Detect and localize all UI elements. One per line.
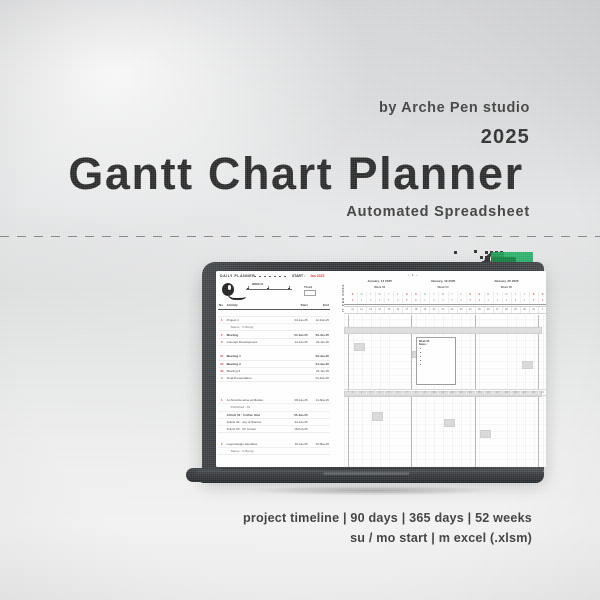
- timed-input[interactable]: [304, 290, 316, 296]
- cell-end: 12-Feb-25: [309, 316, 330, 323]
- spreadsheet: DAILY PLANNER START : Jan 2025 WEEK 01: [216, 271, 546, 467]
- cell-start: [287, 390, 308, 397]
- cell-activity: Article 03 : On Colour: [226, 426, 288, 433]
- cell-end: 24-Jan-25: [309, 367, 330, 374]
- divider-dashed: [0, 236, 600, 237]
- cell-end: [309, 404, 330, 411]
- gantt-pane: ‹ 1 › January, 12 2025Week 03January, 19…: [344, 271, 546, 467]
- cell-start: -: [287, 309, 308, 316]
- gantt-month-label: January, 12 2025: [348, 279, 411, 283]
- table-row: [218, 433, 330, 441]
- cell-start: [287, 375, 308, 382]
- cell-no: 1: [218, 316, 226, 323]
- gantt-month-label: January, 19 2025: [411, 279, 474, 283]
- gantt-dayindex-row: 1234567891011121314151617181920212223242…: [344, 389, 546, 396]
- cell-no: 3: [218, 338, 226, 345]
- table-row[interactable]: Article 01 : Coffee time05-Jan-25✓: [218, 411, 330, 418]
- start-date-value[interactable]: Jan 2025: [310, 274, 324, 278]
- cell-activity: [226, 390, 288, 397]
- table-row: [218, 390, 330, 397]
- footer-line-1: project timeline | 90 days | 365 days | …: [243, 511, 532, 525]
- timed-label: Timed: [304, 285, 312, 289]
- cell-activity: Article 02 : Joy of Silence: [226, 418, 288, 425]
- cell-start: [287, 353, 308, 360]
- poster-canvas: by Arche Pen studio 2025 Gantt Chart Pla…: [0, 0, 600, 600]
- laptop-base: [196, 470, 544, 483]
- page-title: Gantt Chart Planner: [0, 148, 600, 200]
- table-row[interactable]: Article 03 : On Colour18-Feb-25: [218, 426, 330, 433]
- gantt-week-label: Week 03: [348, 285, 411, 289]
- gantt-daynum-cell: 1: [538, 298, 546, 303]
- cell-end: [309, 418, 330, 425]
- cell-activity: Meeting 3: [226, 367, 288, 374]
- laptop-lid: DAILY PLANNER START : Jan 2025 WEEK 01: [202, 262, 544, 476]
- sheet-title: DAILY PLANNER: [220, 274, 255, 278]
- gantt-pager[interactable]: ‹ 1 ›: [408, 273, 418, 277]
- cell-start: [287, 367, 308, 374]
- cell-no: 03: [218, 367, 226, 374]
- cell-no: 4: [218, 375, 226, 382]
- cell-activity: Published : 01: [226, 404, 288, 411]
- cell-start: 05-Jan-25: [287, 411, 308, 418]
- cell-end: [309, 426, 330, 433]
- table-row[interactable]: 02Meeting 204-Jan-25✓: [218, 360, 330, 367]
- gantt-bar[interactable]: [372, 412, 383, 421]
- cell-no: [218, 411, 226, 418]
- cell-activity: Status : In Being: [226, 324, 288, 331]
- gantt-date-row: 1112131415161718192021222324252627282930…: [344, 306, 546, 314]
- cell-no: [218, 324, 226, 331]
- cell-no: [218, 404, 226, 411]
- gantt-week-label: Week 05: [475, 285, 538, 289]
- cell-end: 04-Jan-25✓: [309, 360, 330, 367]
- table-row[interactable]: Status : In Being: [218, 324, 330, 331]
- cell-no: [218, 447, 226, 454]
- start-label: START :: [292, 274, 305, 278]
- mini-timeline-label: WEEK 01: [252, 283, 263, 286]
- table-row[interactable]: 01Meeting 109-Jan-25✓: [218, 353, 330, 360]
- cell-end: [309, 346, 330, 354]
- cell-start: [287, 447, 308, 454]
- cell-activity: Concept Development: [226, 338, 288, 345]
- cell-no: [218, 309, 226, 316]
- cell-start: 04-Jan-25: [287, 316, 308, 323]
- gantt-month-label: January, 26 2025: [475, 279, 538, 283]
- table-row[interactable]: 03Meeting 324-Jan-25: [218, 367, 330, 374]
- table-row[interactable]: 1A chronicle arise at Modus08-Jan-2514-M…: [218, 397, 330, 404]
- cell-no: [218, 390, 226, 397]
- cell-start: 19-Jan-25: [287, 441, 308, 448]
- cell-start: [287, 346, 308, 354]
- table-row: [218, 346, 330, 354]
- footer-line-2: su / mo start | m excel (.xlsm): [350, 531, 532, 545]
- table-row[interactable]: 3Concept Development14-Jan-2524-Jan-25: [218, 338, 330, 345]
- cell-end: 14-Mar-25: [309, 397, 330, 404]
- cell-activity: Meeting: [226, 331, 288, 338]
- cell-end: 09-Jan-25✓: [309, 331, 330, 338]
- cell-start: 14-Jan-25: [287, 338, 308, 345]
- gantt-daynumber-row: 1234567123456712345671234567: [344, 298, 546, 303]
- cell-no: 2: [218, 331, 226, 338]
- cell-end: [309, 447, 330, 454]
- col-no: No: [218, 302, 226, 309]
- cell-activity: Final Presentation: [226, 375, 288, 382]
- cell-end: [309, 390, 330, 397]
- col-start: Start: [287, 302, 308, 309]
- gantt-week-label: Week: [538, 285, 546, 289]
- sheet-title-dashes: [254, 276, 288, 277]
- cell-activity: A chronicle arise at Modus: [226, 397, 288, 404]
- cell-no: 01: [218, 353, 226, 360]
- cell-no: [218, 418, 226, 425]
- note-subtitle: Notes :: [419, 343, 427, 346]
- brand-logo-icon: [221, 282, 247, 298]
- cell-no: [218, 382, 226, 390]
- cell-start: [287, 433, 308, 441]
- cell-activity: Logo Design Identities: [226, 441, 288, 448]
- cell-start: 24-Jan-25: [287, 418, 308, 425]
- cell-end: 15-Mar-25: [309, 441, 330, 448]
- gantt-bar[interactable]: [522, 361, 533, 369]
- note-bullet: [420, 364, 421, 365]
- note-bullet: [420, 356, 421, 357]
- table-row[interactable]: 4Final Presentation01-Feb-25: [218, 375, 330, 382]
- cell-start: 08-Jan-25: [287, 397, 308, 404]
- gantt-weekday-row: SMTWTFSSMTWTFSSMTWTFSSMTWTFS: [344, 292, 546, 297]
- note-bullet: [420, 352, 421, 353]
- activity-table-body: ---1Project 104-Jan-2512-Feb-25Status : …: [218, 309, 330, 455]
- cell-start: [287, 360, 308, 367]
- table-row[interactable]: Published : 01: [218, 404, 330, 411]
- cell-end: 24-Jan-25: [309, 338, 330, 345]
- table-row[interactable]: 2Logo Design Identities19-Jan-2515-Mar-2…: [218, 441, 330, 448]
- table-row[interactable]: Article 02 : Joy of Silence24-Jan-25: [218, 418, 330, 425]
- cell-start: [287, 324, 308, 331]
- table-row[interactable]: Status : In Being: [218, 447, 330, 454]
- gantt-dayindex-cell: 22: [538, 390, 546, 395]
- laptop-shadow: [196, 484, 548, 497]
- cell-end: ✓: [309, 411, 330, 418]
- cell-activity: -: [226, 309, 288, 316]
- cell-end: [309, 324, 330, 331]
- gantt-weekday-cell: S: [538, 292, 546, 297]
- laptop-mockup: DAILY PLANNER START : Jan 2025 WEEK 01: [196, 262, 544, 492]
- spreadsheet-left-pane: DAILY PLANNER START : Jan 2025 WEEK 01: [216, 271, 333, 467]
- cell-end: 09-Jan-25✓: [309, 353, 330, 360]
- gantt-date-cell: 1: [538, 307, 546, 313]
- cell-end: 01-Feb-25: [309, 375, 330, 382]
- table-row[interactable]: ---: [218, 309, 330, 316]
- activity-table: No Activity Start End ---1Project 104-Ja…: [218, 302, 330, 455]
- table-header-row: No Activity Start End: [218, 302, 330, 309]
- gantt-bar[interactable]: [344, 327, 542, 334]
- cell-no: [218, 433, 226, 441]
- cell-end: [309, 382, 330, 390]
- cell-start: [287, 382, 308, 390]
- cell-no: [218, 426, 226, 433]
- note-bullet: [420, 360, 421, 361]
- cell-activity: Status : In Being: [226, 447, 288, 454]
- cell-activity: Meeting 1: [226, 353, 288, 360]
- cell-no: [218, 346, 226, 354]
- cell-activity: [226, 346, 288, 354]
- gantt-note-box[interactable]: Week 05Notes :: [416, 337, 456, 385]
- gantt-month-header: January, 12 2025Week 03January, 19 2025W…: [344, 279, 546, 291]
- vertical-label-wrap: IT PRO DOSS: [332, 275, 344, 309]
- col-activity: Activity: [226, 302, 288, 309]
- col-end: End: [309, 302, 330, 309]
- gantt-rule: [344, 304, 546, 305]
- cell-activity: Article 01 : Coffee time: [226, 411, 288, 418]
- note-bullet: [420, 348, 421, 349]
- gantt-bar[interactable]: [480, 430, 491, 438]
- cell-end: -: [309, 309, 330, 316]
- cell-no: 2: [218, 441, 226, 448]
- cell-no: 02: [218, 360, 226, 367]
- cell-activity: Project 1: [226, 316, 288, 323]
- table-row: [218, 382, 330, 390]
- cell-activity: Meeting 2: [226, 360, 288, 367]
- laptop-screen: DAILY PLANNER START : Jan 2025 WEEK 01: [216, 271, 546, 467]
- gantt-month-label: February: [538, 279, 546, 283]
- year-label: 2025: [481, 126, 530, 149]
- table-row[interactable]: 1Project 104-Jan-2512-Feb-25: [218, 316, 330, 323]
- gantt-bar[interactable]: [444, 419, 455, 427]
- cell-start: [287, 404, 308, 411]
- cell-activity: [226, 382, 288, 390]
- table-row[interactable]: 2Meeting04-Jan-2509-Jan-25✓: [218, 331, 330, 338]
- gantt-bar[interactable]: [354, 343, 365, 351]
- cell-no: 1: [218, 397, 226, 404]
- cell-activity: [226, 433, 288, 441]
- cell-start: 18-Feb-25: [287, 426, 308, 433]
- gantt-week-label: Week 04: [411, 285, 474, 289]
- byline: by Arche Pen studio: [379, 100, 530, 116]
- cell-start: 04-Jan-25: [287, 331, 308, 338]
- subtitle: Automated Spreadsheet: [346, 204, 530, 220]
- mini-timeline: WEEK 01: [246, 283, 292, 292]
- cell-end: [309, 433, 330, 441]
